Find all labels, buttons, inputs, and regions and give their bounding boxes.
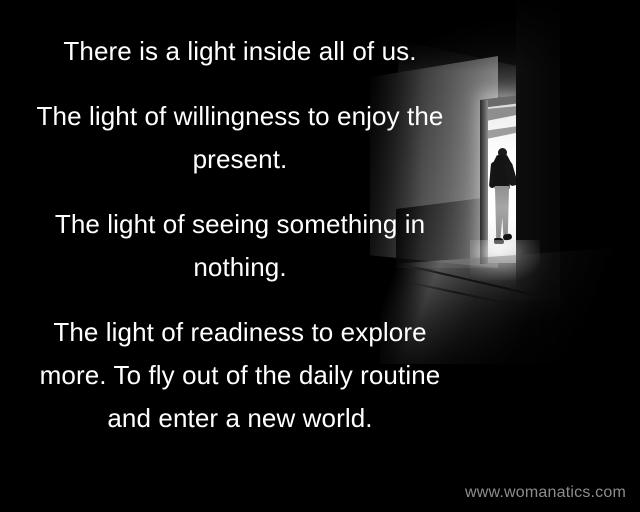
quote-stanza-3: The light of seeing something in nothing… — [0, 203, 480, 289]
quote-line: The light of readiness to explore — [0, 311, 480, 354]
quote-image: There is a light inside all of us. The l… — [0, 0, 640, 512]
figure-legs — [494, 186, 510, 240]
quote-line: present. — [0, 138, 480, 181]
website-watermark: www.womanatics.com — [465, 484, 626, 502]
quote-text-block: There is a light inside all of us. The l… — [0, 0, 480, 440]
quote-stanza-1: There is a light inside all of us. — [0, 30, 480, 73]
quote-stanza-4: The light of readiness to explore more. … — [0, 311, 480, 440]
quote-line: The light of seeing something in — [0, 203, 480, 246]
quote-line: more. To fly out of the daily routine — [0, 354, 480, 397]
quote-line: nothing. — [0, 246, 480, 289]
walking-man-silhouette — [487, 148, 517, 254]
quote-line: The light of willingness to enjoy the — [0, 95, 480, 138]
quote-line: There is a light inside all of us. — [0, 30, 480, 73]
quote-stanza-2: The light of willingness to enjoy the pr… — [0, 95, 480, 181]
quote-line: and enter a new world. — [0, 397, 480, 440]
